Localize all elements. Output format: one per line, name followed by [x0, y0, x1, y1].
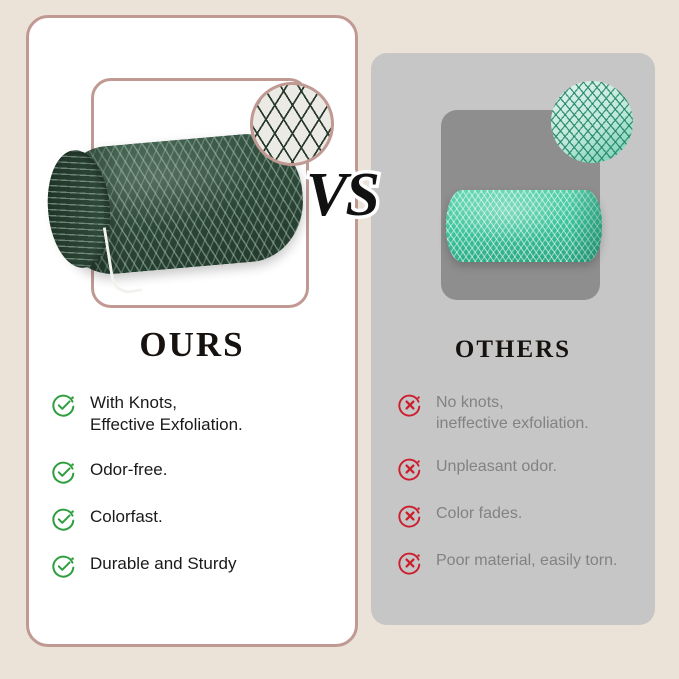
list-item: Durable and Sturdy — [52, 553, 332, 578]
list-item-label: Unpleasant odor. — [436, 456, 557, 477]
list-item: No knots, ineffective exfoliation. — [398, 392, 654, 434]
list-item-label: Odor-free. — [90, 459, 167, 481]
others-product-image — [446, 190, 602, 262]
comparison-infographic: OURS With Knots, Effective Exfoliation. — [0, 0, 679, 679]
list-item-label: No knots, ineffective exfoliation. — [436, 392, 589, 434]
cross-circle-icon — [398, 393, 422, 417]
list-item-label: Poor material, easily torn. — [436, 550, 617, 571]
ours-feature-list: With Knots, Effective Exfoliation. Odor-… — [52, 392, 332, 578]
knotless-net-pattern — [551, 81, 633, 163]
vs-badge: VS — [306, 164, 378, 226]
others-heading: OTHERS — [371, 336, 655, 364]
check-circle-icon — [52, 460, 76, 484]
knotted-net-pattern — [250, 82, 334, 166]
ours-zoom-circle — [250, 82, 334, 166]
list-item-label: With Knots, Effective Exfoliation. — [90, 392, 243, 437]
check-circle-icon — [52, 393, 76, 417]
check-circle-icon — [52, 507, 76, 531]
others-zoom-circle — [551, 81, 633, 163]
list-item-label: Color fades. — [436, 503, 522, 524]
list-item: Colorfast. — [52, 506, 332, 531]
list-item: Color fades. — [398, 503, 654, 528]
list-item-label: Colorfast. — [90, 506, 163, 528]
list-item: With Knots, Effective Exfoliation. — [52, 392, 332, 437]
ours-heading: OURS — [26, 325, 358, 365]
list-item: Poor material, easily torn. — [398, 550, 654, 575]
others-feature-list: No knots, ineffective exfoliation. Unple… — [398, 392, 654, 575]
cross-circle-icon — [398, 551, 422, 575]
cross-circle-icon — [398, 504, 422, 528]
list-item: Odor-free. — [52, 459, 332, 484]
cross-circle-icon — [398, 457, 422, 481]
list-item-label: Durable and Sturdy — [90, 553, 236, 575]
list-item: Unpleasant odor. — [398, 456, 654, 481]
check-circle-icon — [52, 554, 76, 578]
